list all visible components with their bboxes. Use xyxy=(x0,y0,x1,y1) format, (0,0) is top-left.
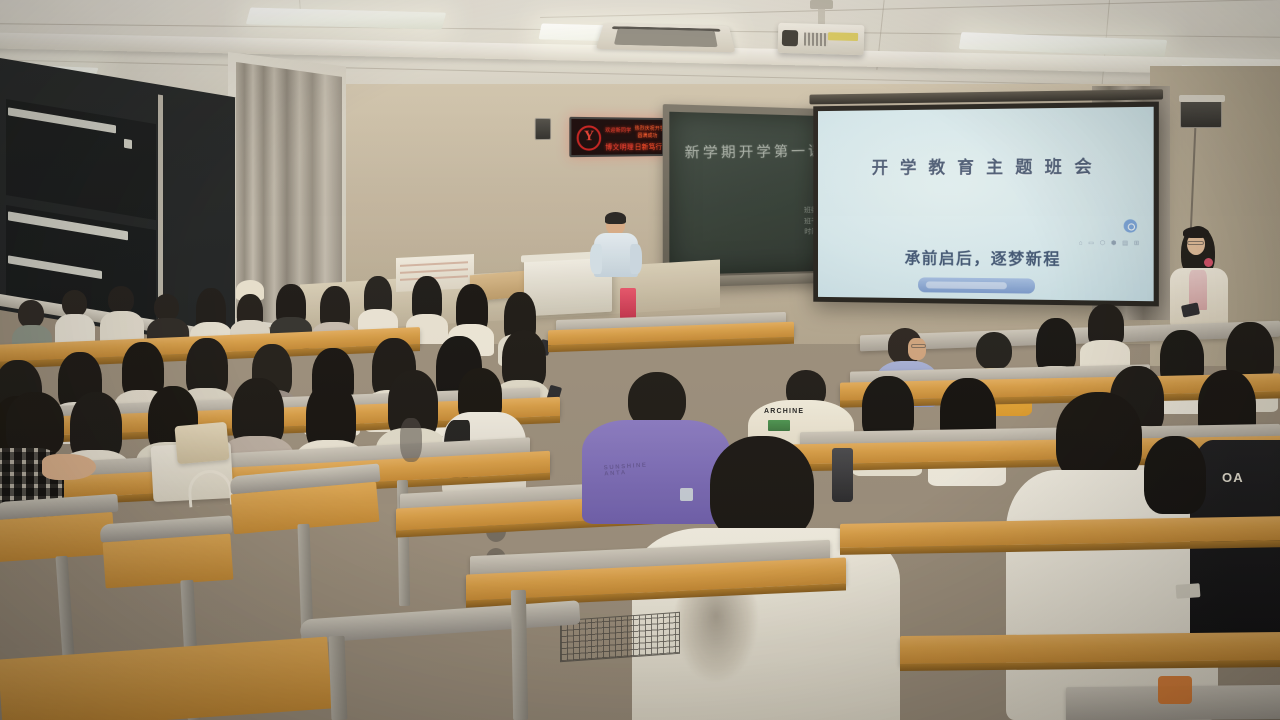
water-bottle xyxy=(832,448,853,502)
armrest-hole xyxy=(400,418,422,462)
ceiling-ac-unit xyxy=(596,23,736,52)
shirt-brand-text: ARCHINE xyxy=(764,408,804,415)
shirt-logo-badge xyxy=(768,420,790,431)
desk-row-right-foreground xyxy=(840,516,1280,548)
wall-speaker-left xyxy=(535,118,551,140)
presenter-arm-right xyxy=(630,244,642,274)
student-head xyxy=(18,300,44,328)
slide-toolbar-icons: ⌂ ▭ ⬡ ⬢ ▤ ⊞ xyxy=(1079,239,1141,246)
hoodie-logo-icon xyxy=(680,488,693,501)
led-display-sign: 欢迎新同学 热烈庆祝开学典礼 圆满成功 博文明理 日新笃行 xyxy=(569,117,664,157)
shirt-brand-text: OA xyxy=(1222,470,1244,485)
slide-cursor-icon xyxy=(1124,219,1137,232)
student-hair-long xyxy=(1144,436,1206,514)
box-stripe xyxy=(400,261,468,267)
projector-vent xyxy=(804,33,828,47)
ceiling-projector xyxy=(778,23,865,55)
student-head xyxy=(710,436,814,542)
window-reflection xyxy=(124,139,132,149)
classroom-photo: 欢迎新同学 热烈庆祝开学典礼 圆满成功 博文明理 日新笃行 新学期开学第一课 班… xyxy=(0,0,1280,720)
seat-bench xyxy=(0,512,115,562)
box-stripe xyxy=(400,268,468,274)
ac-grille xyxy=(614,29,718,48)
projection-screen: 开 学 教 育 主 题 班 会 承前启后，逐梦新程 ⌂ ▭ ⬡ ⬢ ▤ ⊞ xyxy=(813,102,1159,307)
seat-leg xyxy=(511,590,528,720)
student-head xyxy=(62,290,87,317)
wall-speaker-right xyxy=(1180,100,1222,128)
projector-label xyxy=(828,32,858,41)
instructor-glasses-icon xyxy=(1187,241,1204,245)
presenter-at-podium xyxy=(590,214,642,280)
instructor-hair-tie xyxy=(1204,258,1213,267)
student-glasses-icon xyxy=(911,344,926,348)
desk-row-bottom-right xyxy=(900,632,1280,664)
student-hair-long xyxy=(6,392,64,456)
projector-lens-icon xyxy=(782,30,798,46)
seat-bench xyxy=(103,534,234,589)
slide-subtitle: 承前启后，逐梦新程 xyxy=(818,244,1154,270)
seat-bench-foreground xyxy=(0,637,332,720)
paper-bag xyxy=(174,422,229,464)
presentation-toolbar xyxy=(918,277,1035,293)
led-line1-left: 欢迎新同学 xyxy=(605,127,631,134)
seat-leg xyxy=(329,636,348,720)
desk-edge xyxy=(548,337,794,353)
projection-screen-surface: 开 学 教 育 主 题 班 会 承前启后，逐梦新程 ⌂ ▭ ⬡ ⬢ ▤ ⊞ xyxy=(818,107,1154,301)
slide-title: 开 学 教 育 主 题 班 会 xyxy=(818,152,1154,179)
presenter-arm-left xyxy=(590,244,602,274)
ceiling-seam xyxy=(540,0,1280,18)
student-head xyxy=(154,294,179,321)
student-face xyxy=(908,338,926,360)
blackboard-chalk-title: 新学期开学第一课 xyxy=(684,141,825,163)
led-line2-left: 博文明理 xyxy=(605,142,634,152)
instructor-standing-right xyxy=(1168,228,1230,326)
student-head xyxy=(108,286,134,314)
university-logo-icon xyxy=(577,125,602,150)
presenter-hair xyxy=(605,212,626,224)
student-head xyxy=(976,332,1012,370)
student-arm xyxy=(42,454,96,480)
led-line2-right: 日新笃行 xyxy=(635,142,663,152)
led-line1-right-bottom: 圆满成功 xyxy=(638,132,658,139)
instructor-hair-front xyxy=(1183,227,1209,238)
smartphone-on-desk xyxy=(1176,583,1201,599)
red-bag xyxy=(620,288,636,320)
orange-object xyxy=(1158,676,1192,704)
